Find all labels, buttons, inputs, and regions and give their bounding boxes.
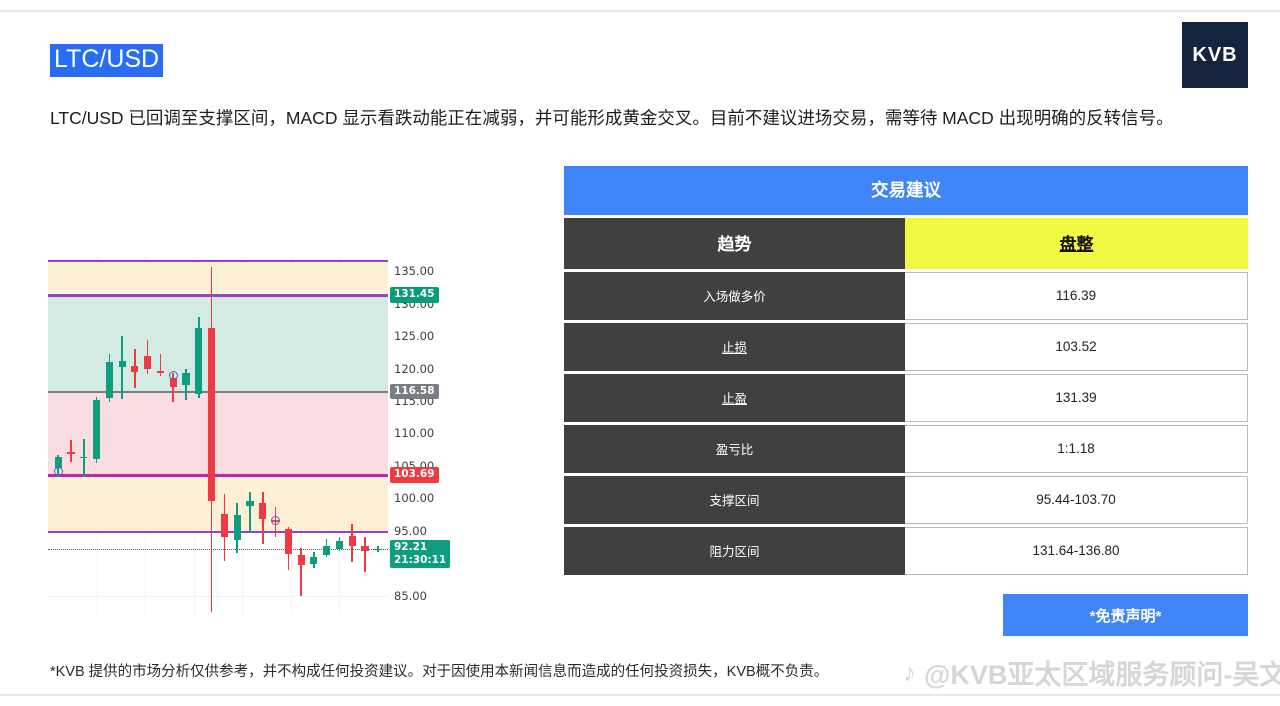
kvb-logo: KVB	[1182, 22, 1248, 88]
candle-body	[221, 514, 228, 537]
entry-line	[48, 391, 388, 393]
candle-body	[80, 457, 87, 459]
lower-support-zone	[48, 474, 388, 530]
bottom-divider	[0, 694, 1280, 696]
watermark-text: @KVB亚太区域服务顾问-吴文	[924, 653, 1280, 692]
row-value: 95.44-103.70	[905, 476, 1248, 524]
table-row: 入场做多价116.39	[564, 272, 1248, 320]
table-row: 止损103.52	[564, 323, 1248, 371]
signal-marker	[169, 371, 178, 380]
axis-tick-label: 120.00	[394, 362, 434, 376]
watermark: ♪ @KVB亚太区域服务顾问-吴文	[903, 653, 1280, 692]
candle-body	[93, 400, 100, 459]
axis-tick-label: 135.00	[394, 264, 434, 278]
candle-body	[310, 557, 317, 564]
last-price-line	[48, 549, 388, 550]
candle-body	[144, 356, 151, 369]
row-value: 1:1.18	[905, 425, 1248, 473]
kvb-logo-text: KVB	[1192, 44, 1237, 67]
candle-body	[67, 452, 74, 454]
row-value: 103.52	[905, 323, 1248, 371]
candle-wick	[249, 492, 251, 533]
trend-label: 趋势	[564, 218, 905, 269]
stop-marker: 103.69	[390, 467, 439, 483]
row-value: 131.39	[905, 374, 1248, 422]
candle-body	[234, 515, 241, 540]
profit-zone	[48, 294, 388, 390]
candle-body	[259, 503, 266, 519]
chart-gridline-horizontal	[48, 596, 388, 597]
price-chart[interactable]: 135.00130.00125.00120.00115.00110.00105.…	[48, 255, 440, 615]
badge-price: 131.45	[394, 288, 435, 301]
table-body: 入场做多价116.39止损103.52止盈131.39盈亏比1:1.18支撑区间…	[564, 272, 1248, 575]
candle-body	[374, 549, 381, 551]
chart-plot-area[interactable]	[48, 255, 388, 615]
axis-tick-label: 125.00	[394, 329, 434, 343]
candle-body	[361, 546, 368, 551]
page-title: LTC/USD	[50, 44, 163, 77]
row-label: 入场做多价	[564, 272, 905, 320]
row-label: 阻力区间	[564, 527, 905, 575]
badge-time: 21:30:11	[394, 554, 446, 567]
trend-value: 盘整	[905, 218, 1248, 269]
row-label: 支撑区间	[564, 476, 905, 524]
row-value: 131.64-136.80	[905, 527, 1248, 575]
support-line	[48, 531, 388, 533]
disclaimer-button[interactable]: *免责声明*	[1003, 594, 1248, 636]
stop-line	[48, 474, 388, 476]
row-value: 116.39	[905, 272, 1248, 320]
candle-body	[336, 541, 343, 549]
table-row: 阻力区间131.64-136.80	[564, 527, 1248, 575]
row-label: 止损	[564, 323, 905, 371]
axis-tick-label: 110.00	[394, 426, 434, 440]
signal-marker	[54, 467, 63, 476]
resistance-upper-line	[48, 260, 388, 262]
footer-disclaimer: *KVB 提供的市场分析仅供参考，并不构成任何投资建议。对于因使用本新闻信息而造…	[50, 660, 828, 681]
candle-body	[195, 328, 202, 394]
table-row: 支撑区间95.44-103.70	[564, 476, 1248, 524]
badge-price: 92.21	[394, 541, 446, 554]
table-subheader-row: 趋势 盘整	[564, 218, 1248, 269]
candle-body	[323, 546, 330, 555]
table-row: 止盈131.39	[564, 374, 1248, 422]
row-label: 盈亏比	[564, 425, 905, 473]
table-header-row: 交易建议	[564, 166, 1248, 215]
badge-price: 116.58	[394, 385, 435, 398]
last-price-marker: 92.2121:30:11	[390, 540, 450, 569]
analysis-paragraph: LTC/USD 已回调至支撑区间，MACD 显示看跌动能正在减弱，并可能形成黄金…	[50, 104, 1220, 132]
row-label: 止盈	[564, 374, 905, 422]
axis-tick-label: 100.00	[394, 491, 434, 505]
table-row: 盈亏比1:1.18	[564, 425, 1248, 473]
axis-tick-label: 95.00	[394, 524, 427, 538]
candle-body	[208, 328, 215, 501]
resistance-lower-line	[48, 294, 388, 296]
trading-advice-table: 交易建议 趋势 盘整 入场做多价116.39止损103.52止盈131.39盈亏…	[564, 163, 1248, 578]
chart-price-axis: 135.00130.00125.00120.00115.00110.00105.…	[388, 255, 440, 615]
table-header-title: 交易建议	[564, 166, 1248, 215]
candle-wick	[364, 537, 366, 572]
entry-marker: 116.58	[390, 384, 439, 400]
candle-body	[131, 366, 138, 372]
candle-body	[157, 371, 164, 373]
candle-body	[106, 362, 113, 398]
candle-body	[349, 536, 356, 546]
resistance-marker: 131.45	[390, 287, 439, 303]
music-note-icon: ♪	[903, 657, 916, 688]
top-divider	[0, 10, 1280, 12]
candle-body	[285, 529, 292, 554]
candle-body	[298, 555, 305, 565]
candle-wick	[121, 336, 123, 399]
candle-body	[246, 501, 253, 506]
candle-body	[182, 373, 189, 385]
axis-tick-label: 85.00	[394, 589, 427, 603]
candle-body	[119, 361, 126, 366]
badge-price: 103.69	[394, 468, 435, 481]
upper-resistance-zone	[48, 260, 388, 294]
candle-wick	[70, 440, 72, 462]
